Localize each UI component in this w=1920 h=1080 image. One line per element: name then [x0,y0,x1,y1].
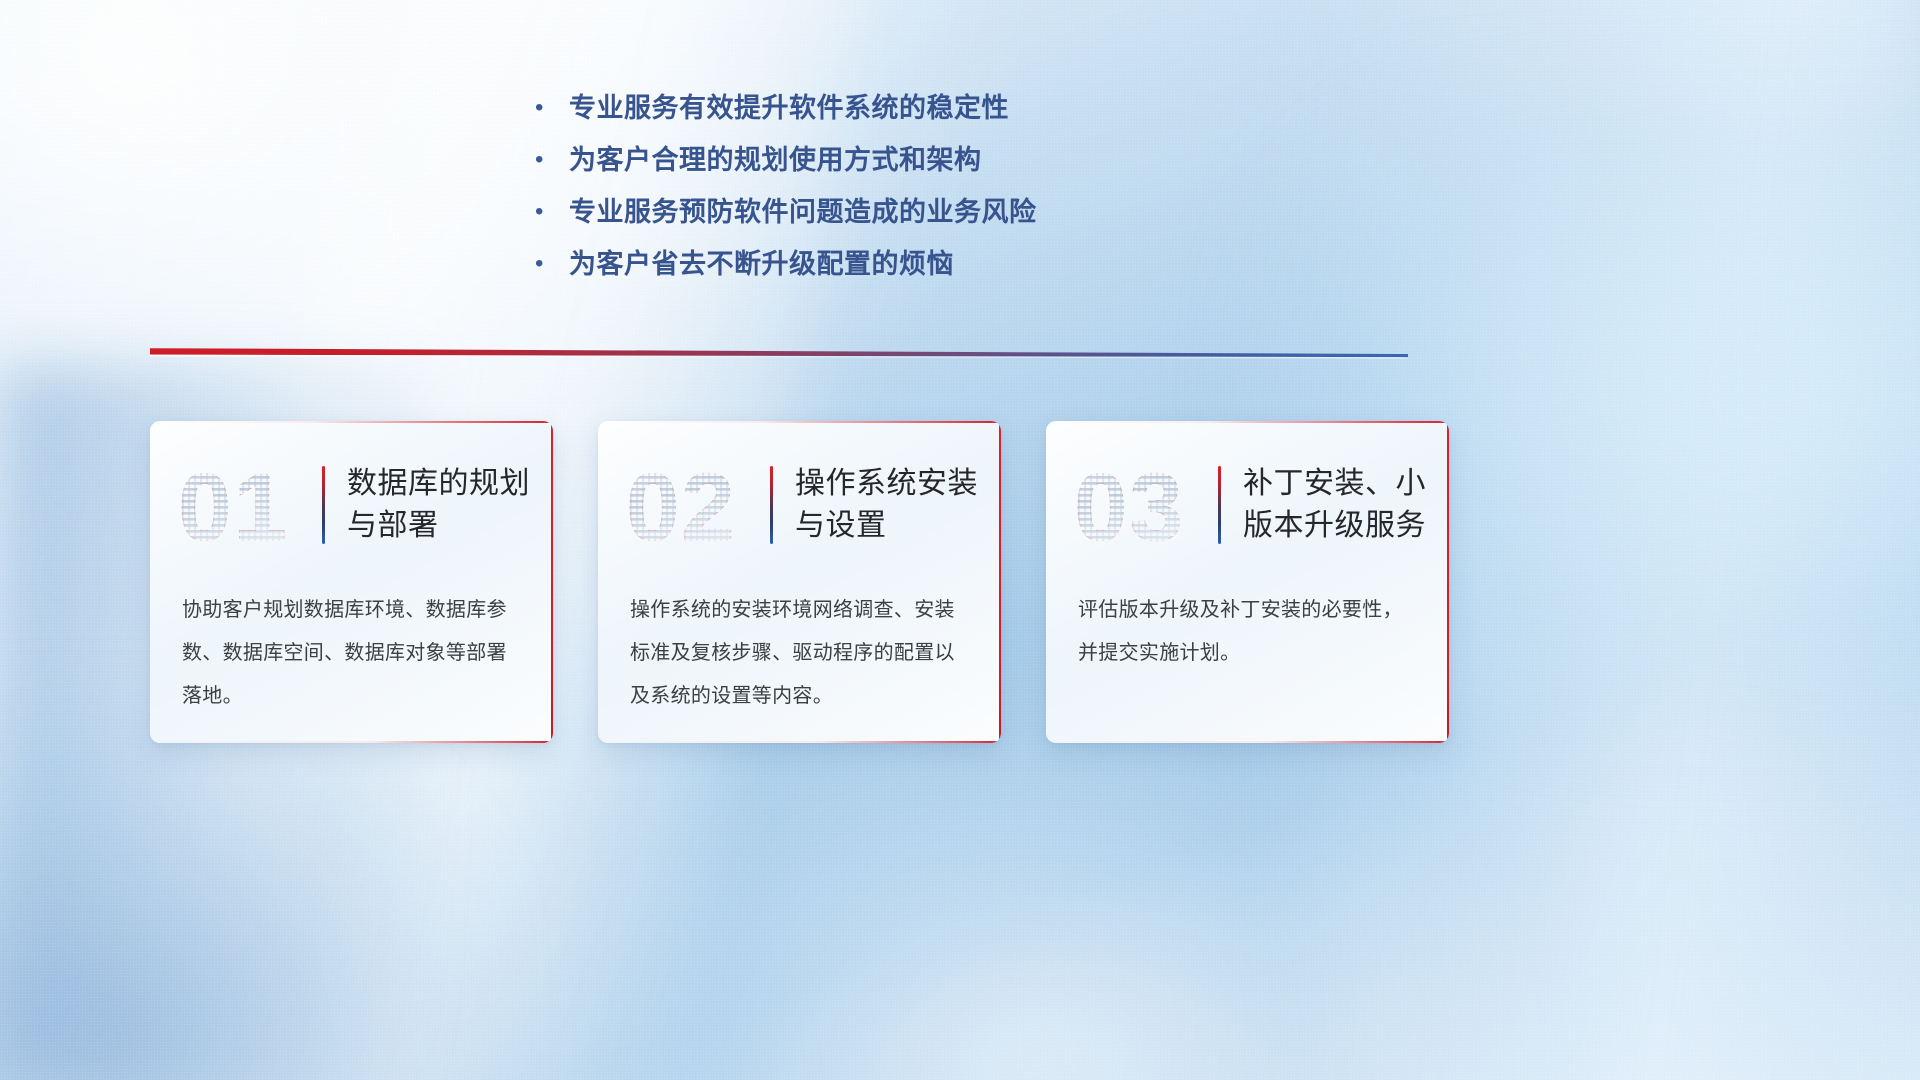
card-title-separator [770,466,773,544]
card-title: 补丁安装、小 版本升级服务 [1243,463,1426,547]
card-number-icon: 02 02 [624,452,754,558]
card-number-watermark: 03 03 [1072,452,1202,558]
card-top-accent-rail [1046,421,1449,423]
card-bottom-accent-rail [598,741,1001,743]
service-card[interactable]: 02 02 操作系统安装 与设置 操作系统的安装环境网络调查、安装标准及复核步骤… [598,421,1001,743]
card-header: 03 03 补丁安装、小 版本升级服务 [1046,445,1449,565]
bullet-marker-icon: • [535,244,569,284]
svg-text:03: 03 [1074,454,1185,558]
svg-text:02: 02 [626,454,737,558]
card-title-separator [322,466,325,544]
card-top-accent-rail [150,421,553,423]
bullet-marker-icon: • [535,140,569,180]
card-title-separator [1218,466,1221,544]
list-item-label: 为客户合理的规划使用方式和架构 [569,140,982,180]
list-item-label: 专业服务有效提升软件系统的稳定性 [569,88,1009,128]
card-title: 数据库的规划 与部署 [347,463,530,547]
svg-text:01: 01 [178,454,289,558]
list-item: • 为客户省去不断升级配置的烦恼 [535,244,1255,296]
card-description: 操作系统的安装环境网络调查、安装标准及复核步骤、驱动程序的配置以及系统的设置等内… [630,589,975,718]
bullet-marker-icon: • [535,88,569,128]
benefits-bullet-list: • 专业服务有效提升软件系统的稳定性 • 为客户合理的规划使用方式和架构 • 专… [535,88,1255,296]
card-title: 操作系统安装 与设置 [795,463,978,547]
card-description: 评估版本升级及补丁安装的必要性，并提交实施计划。 [1078,589,1423,675]
card-number-icon: 01 01 [176,452,306,558]
section-divider-icon [150,346,1408,362]
card-header: 01 01 数据库的规划 与部署 [150,445,553,565]
list-item: • 为客户合理的规划使用方式和架构 [535,140,1255,192]
list-item-label: 专业服务预防软件问题造成的业务风险 [569,192,1037,232]
service-card[interactable]: 03 03 补丁安装、小 版本升级服务 评估版本升级及补丁安装的必要性，并提交实… [1046,421,1449,743]
card-number-watermark: 01 01 [176,452,306,558]
section-divider [150,346,1408,362]
card-number-watermark: 02 02 [624,452,754,558]
card-top-accent-rail [598,421,1001,423]
bullet-marker-icon: • [535,192,569,232]
list-item: • 专业服务预防软件问题造成的业务风险 [535,192,1255,244]
list-item: • 专业服务有效提升软件系统的稳定性 [535,88,1255,140]
service-card-grid: 01 01 数据库的规划 与部署 协助客户规划数据库环境、数据库参数、数据库空间… [150,421,1450,743]
card-number-icon: 03 03 [1072,452,1202,558]
service-card[interactable]: 01 01 数据库的规划 与部署 协助客户规划数据库环境、数据库参数、数据库空间… [150,421,553,743]
card-description: 协助客户规划数据库环境、数据库参数、数据库空间、数据库对象等部署落地。 [182,589,527,718]
card-header: 02 02 操作系统安装 与设置 [598,445,1001,565]
card-bottom-accent-rail [1046,741,1449,743]
list-item-label: 为客户省去不断升级配置的烦恼 [569,244,954,284]
card-bottom-accent-rail [150,741,553,743]
